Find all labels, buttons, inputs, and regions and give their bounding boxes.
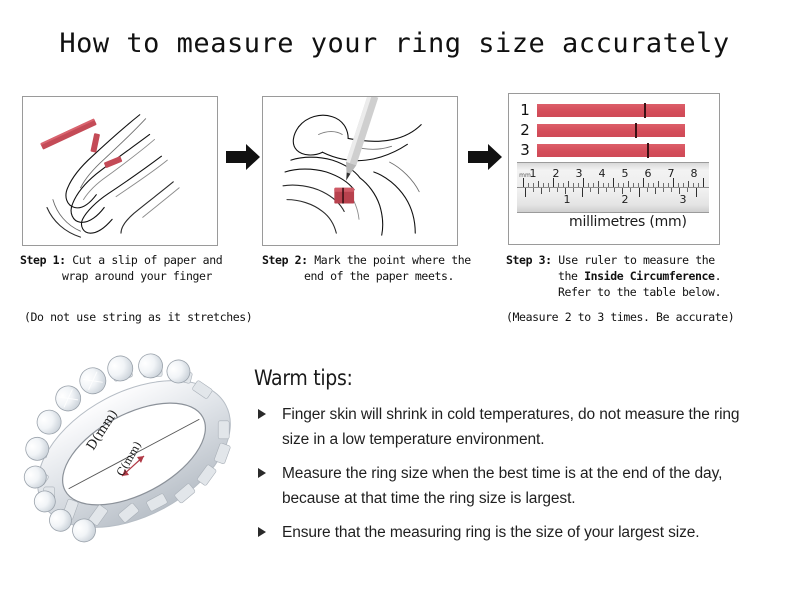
ruler-cm-label: 3 <box>576 167 583 180</box>
ruler-cm-label: 5 <box>622 167 629 180</box>
measured-strip-row: 2 <box>517 123 685 138</box>
warm-tip-item: Measure the ring size when the best time… <box>256 461 761 511</box>
step-2-label: Step 2: <box>262 253 308 267</box>
step-3-line3: Refer to the table below. <box>506 284 766 300</box>
step-3-caption: Step 3: Use ruler to measure the the Ins… <box>506 252 766 300</box>
strip-number: 3 <box>517 143 533 158</box>
ruler-cm-label: 2 <box>553 167 560 180</box>
strip-mark <box>647 143 649 158</box>
strip-mark <box>644 103 646 118</box>
strip-mark <box>635 123 637 138</box>
ruler-icon: 1 2 3 4 5 6 7 8 mm 1 2 3 <box>517 162 709 213</box>
ruler-cm-label: 8 <box>691 167 698 180</box>
measured-strip-row: 1 <box>517 103 685 118</box>
step-1-caption: Step 1: Cut a slip of paper and wrap aro… <box>20 252 260 284</box>
strip-bar <box>537 144 685 157</box>
step-3-note: (Measure 2 to 3 times. Be accurate) <box>506 310 734 324</box>
ruler-inch-scale: 1 2 3 <box>517 188 709 212</box>
page-title: How to measure your ring size accurately <box>0 28 789 59</box>
ruler-mm-hint: mm <box>519 172 531 179</box>
pen-icon <box>341 97 379 182</box>
triangle-bullet-icon <box>258 409 266 419</box>
inside-circumference-emphasis: Inside Circumference <box>584 269 714 283</box>
ruler-inch-label: 2 <box>622 193 629 206</box>
strip-bar <box>537 124 685 137</box>
ruler-cm-scale: 1 2 3 4 5 6 7 8 mm <box>517 163 709 188</box>
step-2-line2: end of the paper meets. <box>262 268 502 284</box>
step-3-line1: Use ruler to measure the <box>552 253 715 267</box>
warm-tip-item: Ensure that the measuring ring is the si… <box>256 520 761 545</box>
arrow-step1-to-step2-icon <box>224 140 262 174</box>
step-2-illustration-panel <box>262 96 458 246</box>
strip-number: 2 <box>517 123 533 138</box>
step-3-label: Step 3: <box>506 253 552 267</box>
warm-tips-heading: Warm tips: <box>254 366 353 390</box>
hand-marking-paper-with-pen-illustration <box>263 97 457 245</box>
step-1-label: Step 1: <box>20 253 66 267</box>
millimetres-caption: millimetres (mm) <box>569 214 687 230</box>
ruler-cm-label: 7 <box>668 167 675 180</box>
ruler-cm-label: 4 <box>599 167 606 180</box>
measured-strip-row: 3 <box>517 143 685 158</box>
step-3-line2-post: . <box>715 269 722 283</box>
warm-tip-text: Finger skin will shrink in cold temperat… <box>282 406 739 448</box>
paper-slip-on-finger <box>90 133 122 168</box>
warm-tip-item: Finger skin will shrink in cold temperat… <box>256 402 761 452</box>
ring-diagram: D(mm) C(mm) <box>18 352 250 557</box>
step-1-line2: wrap around your finger <box>20 268 260 284</box>
ruler-inch-label: 3 <box>680 193 687 206</box>
step-3-line2-pre: the <box>558 269 584 283</box>
strip-number: 1 <box>517 103 533 118</box>
ruler-inch-label: 1 <box>564 193 571 206</box>
step-2-line1: Mark the point where the <box>308 253 471 267</box>
paper-band-with-mark <box>334 188 354 204</box>
triangle-bullet-icon <box>258 468 266 478</box>
paper-slip-red <box>40 118 97 149</box>
strip-bar <box>537 104 685 117</box>
step-1-line1: Cut a slip of paper and <box>66 253 223 267</box>
arrow-step2-to-step3-icon <box>466 140 504 174</box>
triangle-bullet-icon <box>258 527 266 537</box>
step-2-caption: Step 2: Mark the point where the end of … <box>262 252 502 284</box>
step-1-note: (Do not use string as it stretches) <box>24 310 252 324</box>
ruler-cm-label: 6 <box>645 167 652 180</box>
step-3-line2: the Inside Circumference. <box>506 268 766 284</box>
step-1-illustration-panel <box>22 96 218 246</box>
warm-tips-list: Finger skin will shrink in cold temperat… <box>256 402 761 554</box>
step-3-illustration-panel: 1 2 3 <box>508 93 720 245</box>
warm-tip-text: Measure the ring size when the best time… <box>282 465 722 507</box>
hand-with-paper-strip-illustration <box>23 97 217 245</box>
warm-tip-text: Ensure that the measuring ring is the si… <box>282 524 699 541</box>
